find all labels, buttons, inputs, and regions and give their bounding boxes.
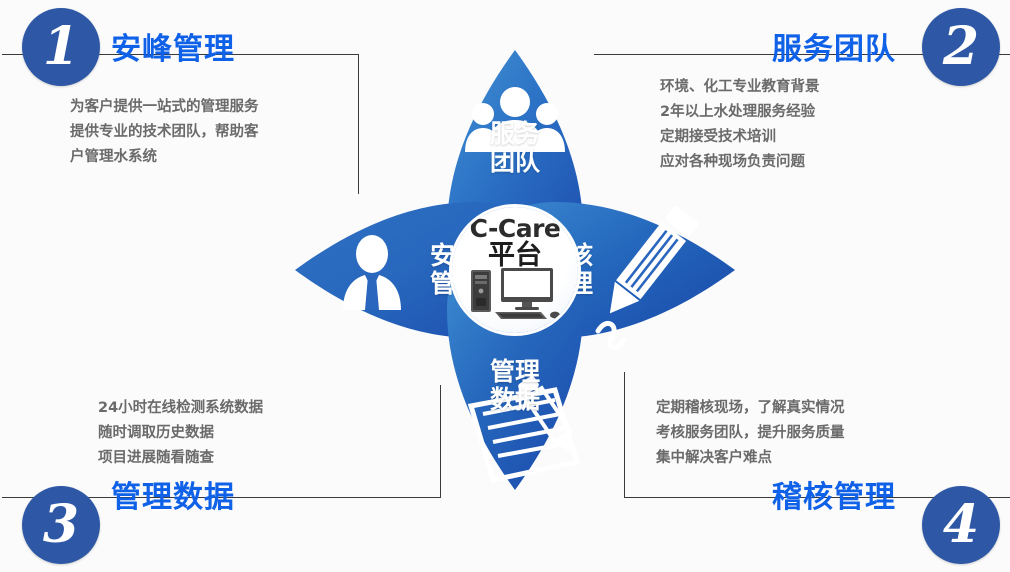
- section-title-1: 安峰管理: [111, 24, 235, 68]
- section-4-line-1: 定期稽核现场，了解真实情况: [656, 396, 845, 421]
- section-badge-1: 1: [22, 8, 100, 86]
- section-title-4: 稽核管理: [772, 472, 896, 516]
- section-title-2: 服务团队: [772, 24, 896, 68]
- section-badge-2: 2: [922, 8, 1000, 86]
- section-2-line-2: 2年以上水处理服务经验: [660, 100, 820, 125]
- section-body-1: 为客户提供一站式的管理服务 提供专业的技术团队，帮助客 户管理水系统: [70, 95, 259, 170]
- section-2-line-1: 环境、化工专业教育背景: [660, 75, 820, 100]
- section-badge-3: 3: [22, 486, 100, 564]
- section-body-4: 定期稽核现场，了解真实情况 考核服务团队，提升服务质量 集中解决客户难点: [656, 396, 845, 471]
- infographic-canvas: 服务 团队 安峰 管理 稽核 管理 管理 数据 C-Care 平台: [0, 0, 1010, 572]
- center-platform-badge: C-Care 平台: [452, 207, 578, 333]
- section-body-3: 24小时在线检测系统数据 随时调取历史数据 项目进展随看随查: [98, 396, 263, 471]
- section-body-2: 环境、化工专业教育背景 2年以上水处理服务经验 定期接受技术培训 应对各种现场负…: [660, 75, 820, 175]
- section-4-line-3: 集中解决客户难点: [656, 446, 845, 471]
- section-1-line-1: 为客户提供一站式的管理服务: [70, 95, 259, 120]
- section-1-line-3: 户管理水系统: [70, 145, 259, 170]
- section-1-line-2: 提供专业的技术团队，帮助客: [70, 120, 259, 145]
- section-3-line-1: 24小时在线检测系统数据: [98, 396, 263, 421]
- center-title-cn: 平台: [488, 242, 542, 270]
- desktop-computer-icon: [467, 268, 563, 325]
- section-2-line-4: 应对各种现场负责问题: [660, 150, 820, 175]
- petal-label-service-team: 服务 团队: [460, 120, 570, 176]
- section-badge-4: 4: [922, 486, 1000, 564]
- section-2-line-3: 定期接受技术培训: [660, 125, 820, 150]
- section-4-line-2: 考核服务团队，提升服务质量: [656, 421, 845, 446]
- center-title-en: C-Care: [470, 216, 561, 241]
- section-3-line-3: 项目进展随看随查: [98, 446, 263, 471]
- section-3-line-2: 随时调取历史数据: [98, 421, 263, 446]
- petal-label-management-data: 管理 数据: [460, 358, 570, 414]
- section-title-3: 管理数据: [111, 472, 235, 516]
